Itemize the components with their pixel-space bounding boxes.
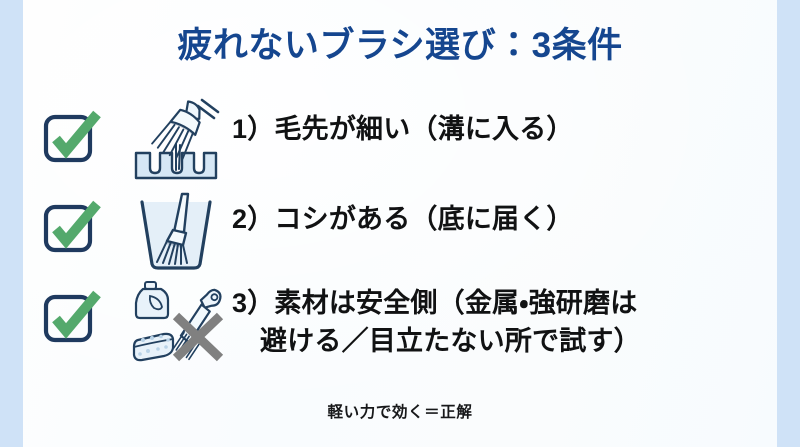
footer-note: 軽い力で効く＝正解: [23, 400, 777, 422]
checkbox-cell: [23, 96, 123, 164]
brush-in-grout-groove-icon: [126, 98, 226, 188]
sponge-icon: [134, 334, 173, 360]
page-title: 疲れないブラシ選び：3条件: [23, 24, 777, 68]
list-item: 1）毛先が細い（溝に入る）: [23, 96, 777, 186]
list-item-line-1: 2）コシがある（底に届く）: [232, 204, 574, 234]
list-item: 2）コシがある（底に届く）: [23, 186, 777, 276]
list-item-text: 2）コシがある（底に届く）: [228, 186, 777, 238]
list-item-line-2: 避ける／目立たない所で試す）: [232, 322, 777, 360]
checkbox-checked-icon: [42, 290, 104, 344]
brush-in-basin-icon: [126, 188, 226, 274]
illustration-cell: [123, 186, 228, 274]
slide-card: 疲れないブラシ選び：3条件: [23, 0, 777, 447]
illustration-cell: [123, 276, 228, 368]
checkbox-cell: [23, 276, 123, 344]
list-item: 3）素材は安全側（金属・強研磨は 避ける／目立たない所で試す）: [23, 276, 777, 372]
checkbox-checked-icon: [42, 110, 104, 164]
illustration-cell: [123, 96, 228, 188]
list-item-line-1: 3）素材は安全側（金属・強研磨は: [232, 288, 637, 318]
list-item-text: 3）素材は安全側（金属・強研磨は 避ける／目立たない所で試す）: [228, 276, 777, 361]
list-item-line-1: 1）毛先が細い（溝に入る）: [232, 114, 574, 144]
slide-root: 疲れないブラシ選び：3条件: [0, 0, 800, 447]
checkbox-cell: [23, 186, 123, 254]
checkbox-checked-icon: [42, 200, 104, 254]
condition-list: 1）毛先が細い（溝に入る）: [23, 96, 777, 372]
detergent-bottle-icon: [136, 282, 168, 318]
detergent-sponge-wirebrush-crossed-icon: [124, 278, 228, 368]
list-item-text: 1）毛先が細い（溝に入る）: [228, 96, 777, 148]
